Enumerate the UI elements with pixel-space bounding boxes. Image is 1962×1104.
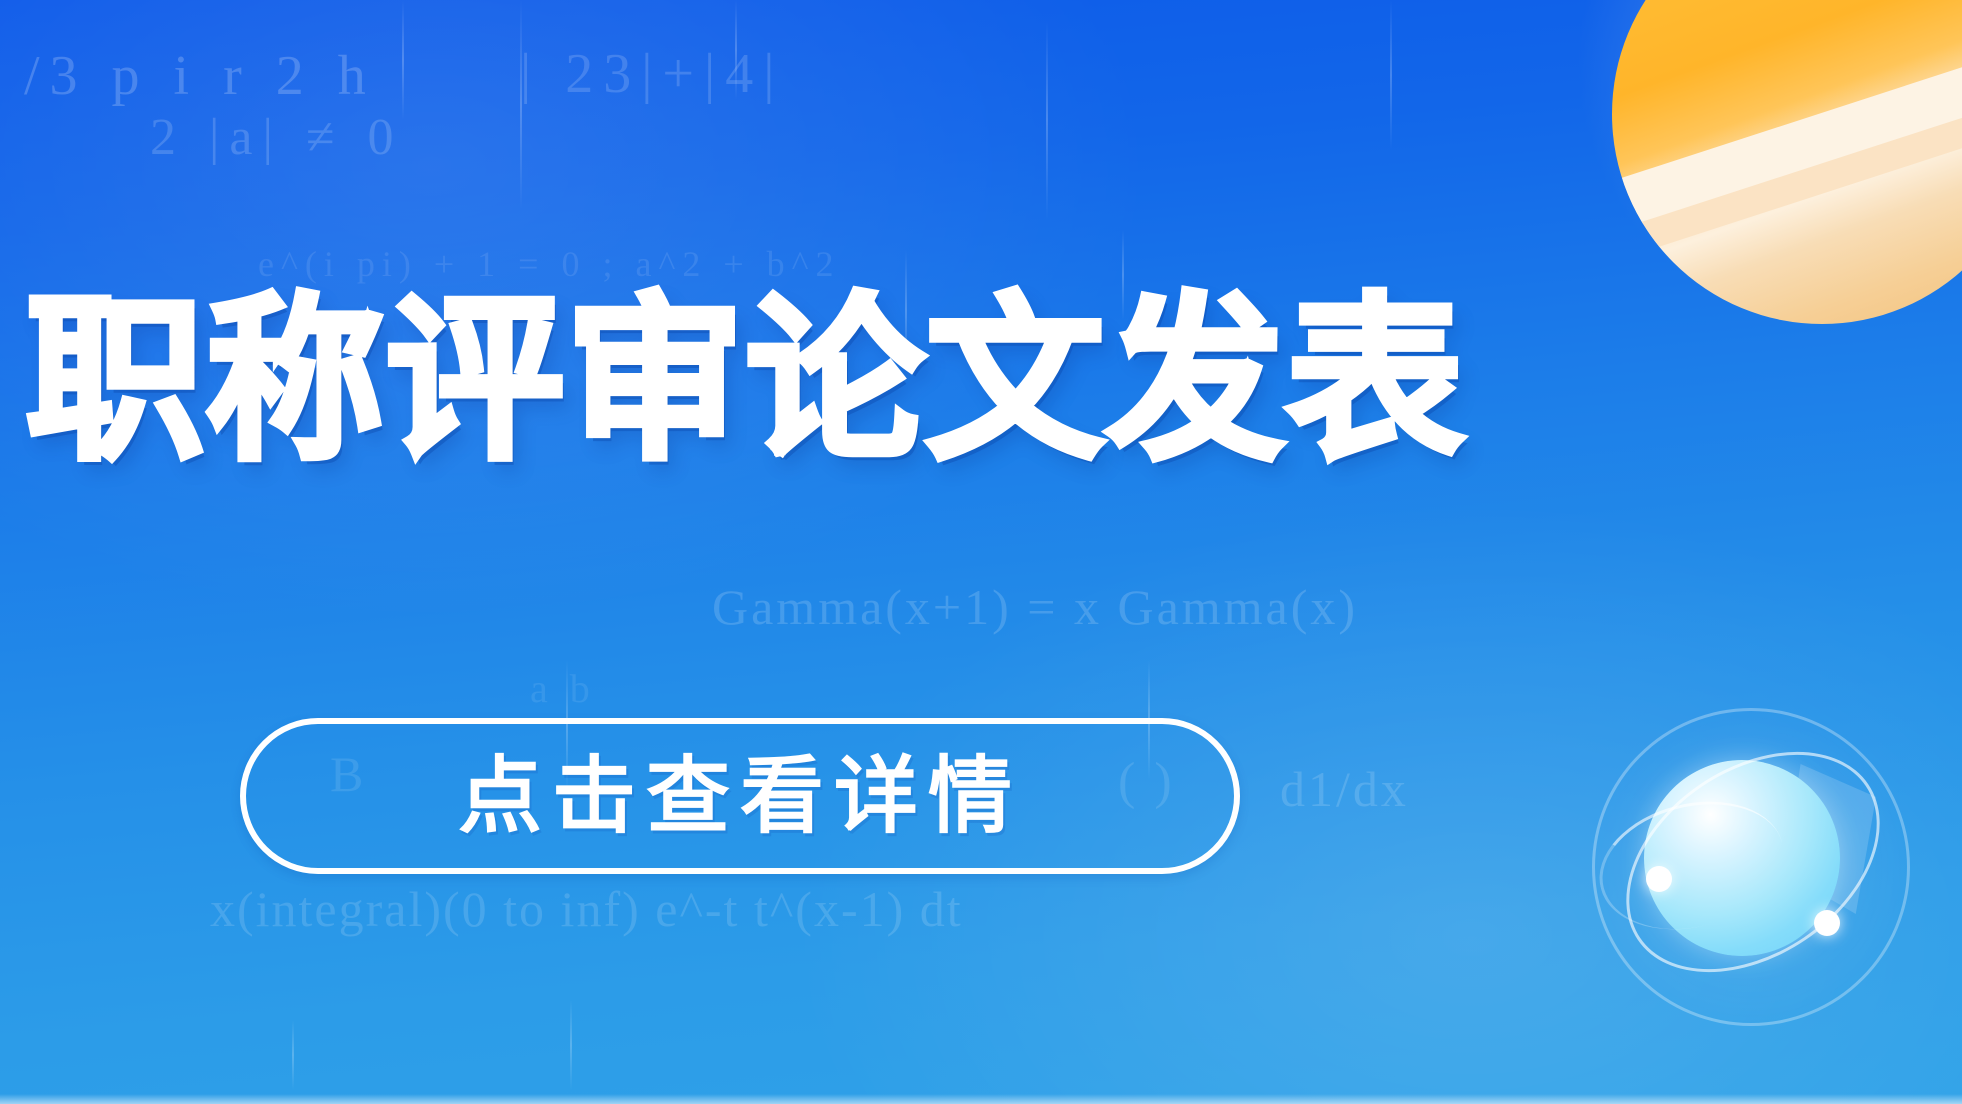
atom-outer-ring <box>1592 708 1910 1026</box>
saturn-planet-icon <box>1612 0 1962 324</box>
atom-electron-right <box>1814 910 1840 936</box>
formula-watermark-layer: /3 p i r 2 h 2 |a| ≠ 0 | 23|+|4| e^(i pi… <box>0 0 1962 1104</box>
bottom-edge-highlight <box>0 1094 1962 1104</box>
view-details-button[interactable]: 点击查看详情 <box>240 718 1240 874</box>
planet-halo <box>1554 0 1962 326</box>
atom-orbit-ring <box>1585 706 1921 1017</box>
watermark-top-left-2: 2 |a| ≠ 0 <box>150 108 403 167</box>
planet-body <box>1612 0 1962 324</box>
atom-orbit-icon <box>1592 708 1910 1026</box>
atom-core-sphere <box>1644 760 1840 956</box>
planet-band-cream <box>1612 79 1962 278</box>
watermark-integral: x(integral)(0 to inf) e^-t t^(x-1) dt <box>210 880 963 938</box>
watermark-derivative: d1/dx <box>1280 760 1409 818</box>
watermark-mid-faint: e^(i pi) + 1 = 0 ; a^2 + b^2 <box>258 243 841 285</box>
watermark-top-right-1: | 23|+|4| <box>520 42 784 106</box>
watermark-top-left-1: /3 p i r 2 h <box>24 44 376 108</box>
page-title: 职称评审论文发表 <box>26 292 1466 470</box>
view-details-button-label: 点击查看详情 <box>458 754 1022 838</box>
promo-banner: /3 p i r 2 h 2 |a| ≠ 0 | 23|+|4| e^(i pi… <box>0 0 1962 1104</box>
atom-electron-left <box>1646 866 1672 892</box>
watermark-ab-pair: a b <box>530 665 596 712</box>
atom-wedge-shape <box>1784 764 1876 914</box>
background-streaks <box>0 0 1962 1104</box>
atom-core-arc <box>1586 783 1797 948</box>
watermark-gamma: Gamma(x+1) = x Gamma(x) <box>712 578 1358 636</box>
planet-band-light <box>1612 30 1962 249</box>
